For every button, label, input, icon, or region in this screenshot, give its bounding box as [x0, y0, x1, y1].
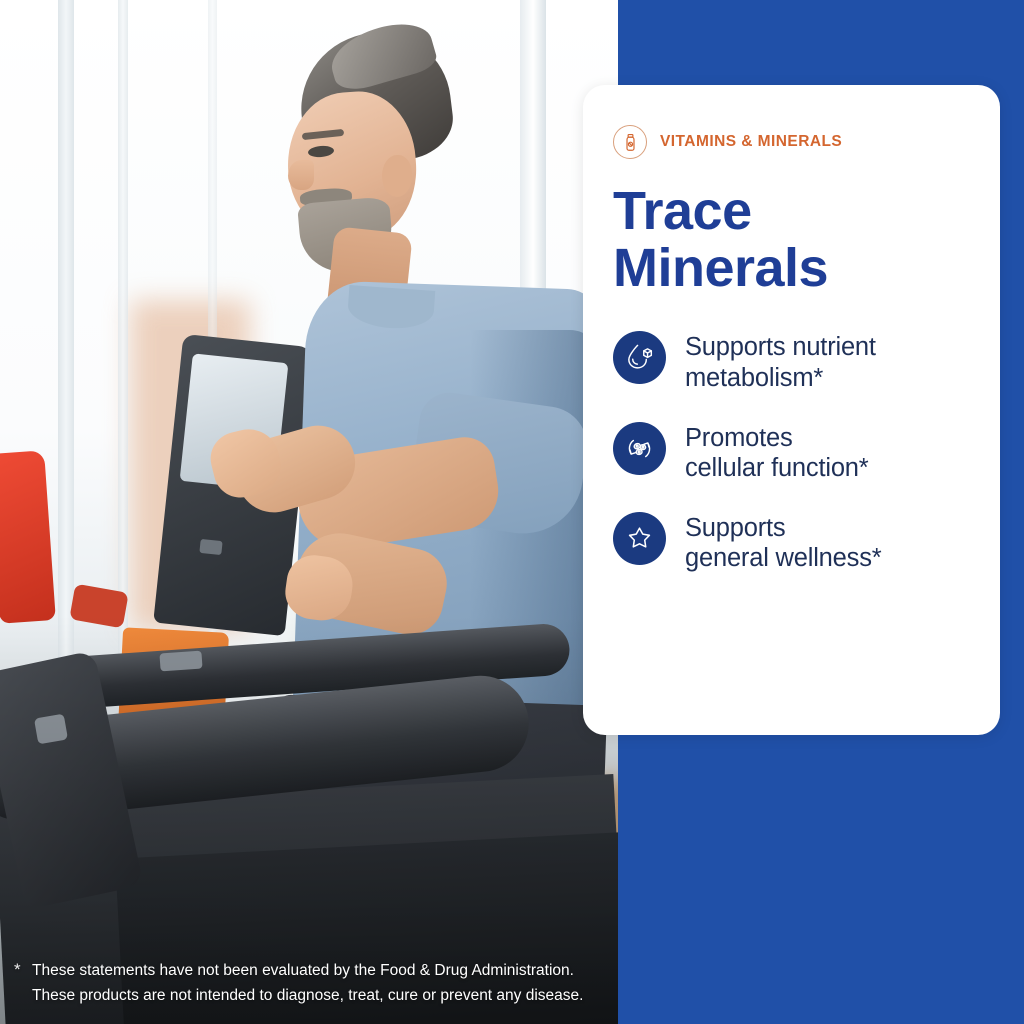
- disclaimer-line1: These statements have not been evaluated…: [32, 958, 622, 983]
- water-droplet-cube-icon: [613, 331, 666, 384]
- hero-photo: [0, 0, 618, 1024]
- benefit-text: Supports nutrient metabolism*: [685, 331, 876, 393]
- benefit-item: Supports nutrient metabolism*: [613, 331, 976, 393]
- product-info-card: VITAMINS & MINERALS Trace Minerals: [583, 85, 1000, 735]
- benefit-line2: metabolism*: [685, 364, 823, 392]
- disclaimer-line2: These products are not intended to diagn…: [32, 983, 622, 1008]
- benefit-line2: cellular function*: [685, 454, 869, 482]
- fda-disclaimer: * These statements have not been evaluat…: [32, 958, 622, 1008]
- benefit-item: Supports general wellness*: [613, 512, 976, 574]
- benefit-line2: general wellness*: [685, 544, 881, 572]
- supplement-bottle-icon: [613, 125, 647, 159]
- benefits-list: Supports nutrient metabolism*: [613, 331, 976, 574]
- benefit-item: Promotes cellular function*: [613, 422, 976, 484]
- star-icon: [613, 512, 666, 565]
- cells-cycle-icon: [613, 422, 666, 475]
- category-badge: VITAMINS & MINERALS: [613, 125, 976, 159]
- benefit-line1: Promotes: [685, 424, 793, 452]
- page-title: Trace Minerals: [613, 183, 976, 297]
- photo-vignette: [0, 0, 618, 1024]
- product-title-line1: Trace: [613, 183, 976, 240]
- ad-canvas: VITAMINS & MINERALS Trace Minerals: [0, 0, 1024, 1024]
- benefit-text: Promotes cellular function*: [685, 422, 869, 484]
- product-title-line2: Minerals: [613, 240, 976, 297]
- benefit-line1: Supports nutrient: [685, 333, 876, 361]
- category-badge-label: VITAMINS & MINERALS: [660, 133, 842, 151]
- benefit-line1: Supports: [685, 514, 785, 542]
- disclaimer-asterisk: *: [14, 956, 21, 984]
- benefit-text: Supports general wellness*: [685, 512, 881, 574]
